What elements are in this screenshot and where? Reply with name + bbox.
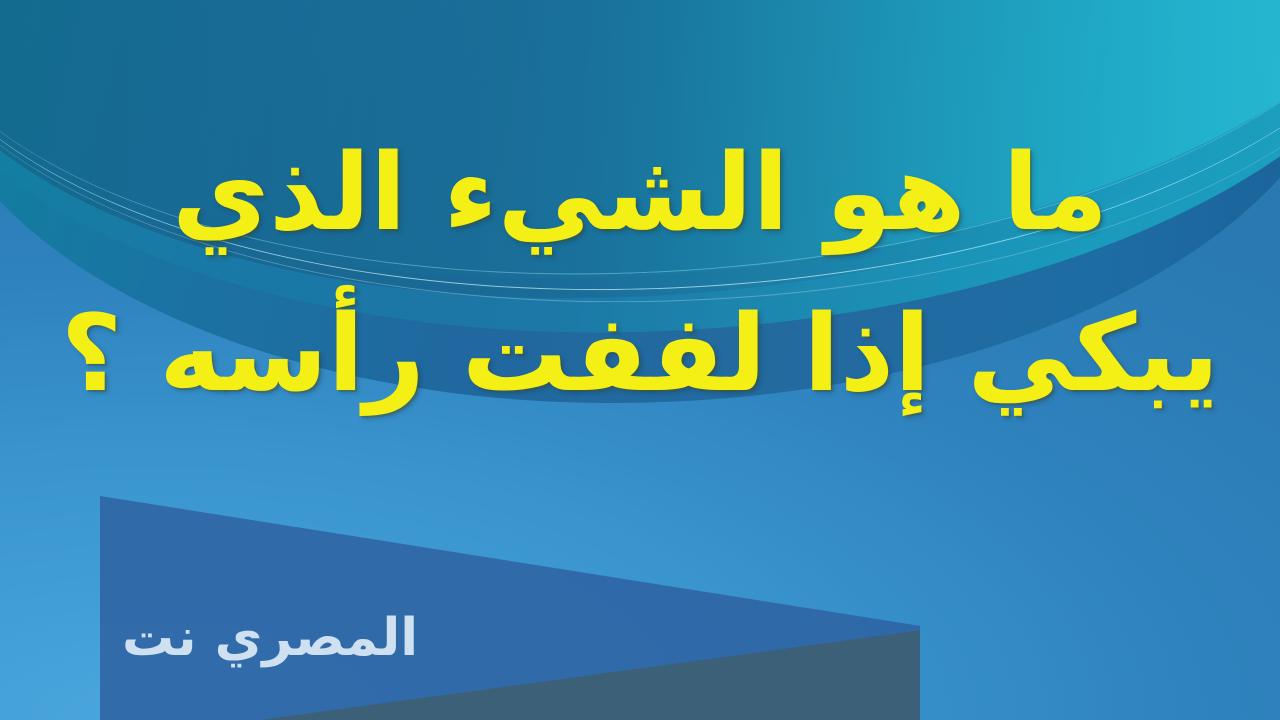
watermark-panel: المصري نت: [100, 496, 920, 720]
watermark-label: المصري نت: [122, 612, 418, 664]
riddle-line-2: يبكي إذا لففت رأسه ؟: [24, 279, 1256, 430]
slide-canvas: ما هو الشيء الذي يبكي إذا لففت رأسه ؟ ال…: [0, 0, 1280, 720]
riddle-line-1: ما هو الشيء الذي: [24, 118, 1256, 269]
riddle-text: ما هو الشيء الذي يبكي إذا لففت رأسه ؟: [0, 118, 1280, 429]
